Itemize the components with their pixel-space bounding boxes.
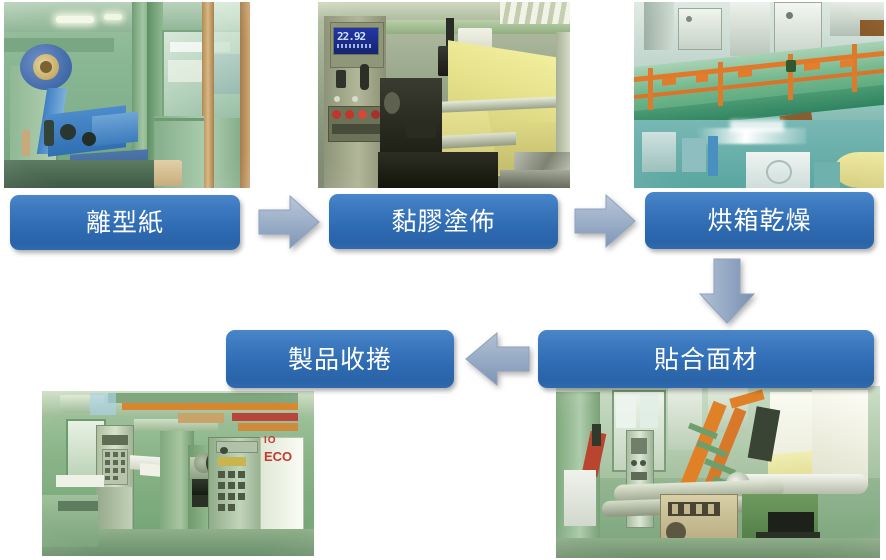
arrow-right-2 (574, 192, 636, 250)
photo-oven-drying (634, 2, 884, 188)
flow-step-1[interactable]: 離型紙 (10, 195, 240, 250)
arrow-left-icon (464, 330, 530, 388)
arrow-right-icon (258, 193, 320, 251)
flow-step-4[interactable]: 貼合面材 (538, 330, 874, 388)
photo-adhesive-coating: 22.92 (318, 2, 570, 188)
flow-step-1-label: 離型紙 (86, 210, 164, 235)
flow-step-5[interactable]: 製品收捲 (226, 330, 454, 388)
photo-product-winding: B ECO IO (42, 391, 314, 556)
flow-step-5-label: 製品收捲 (288, 347, 392, 372)
eco-label: ECO (264, 449, 292, 464)
arrow-down-1 (698, 258, 756, 324)
flow-step-3-label: 烘箱乾燥 (707, 208, 811, 233)
arrow-right-1 (258, 193, 320, 251)
flow-step-2[interactable]: 黏膠塗佈 (329, 194, 558, 249)
flow-step-4-label: 貼合面材 (654, 347, 758, 372)
flow-step-2-label: 黏膠塗佈 (391, 209, 495, 234)
arrow-right-icon (574, 192, 636, 250)
process-flow-diagram: 22.92 (0, 0, 886, 560)
photo-laminating (556, 386, 880, 558)
arrow-down-icon (698, 258, 756, 324)
flow-step-3[interactable]: 烘箱乾燥 (645, 192, 874, 249)
photo-release-paper (4, 2, 250, 188)
arrow-left-1 (464, 330, 530, 388)
